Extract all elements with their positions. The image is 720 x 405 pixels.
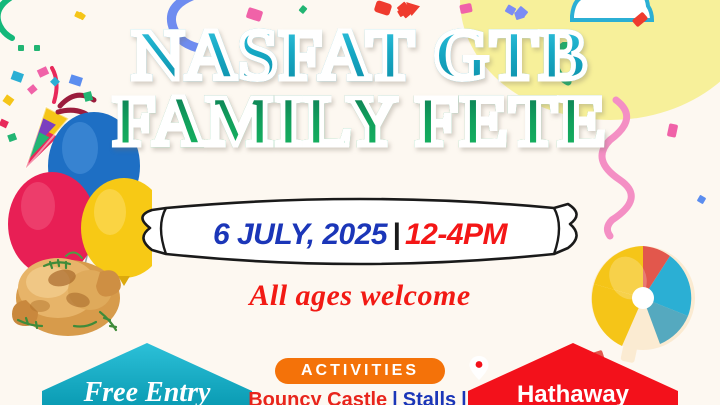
confetti-piece [77,12,86,21]
title-line-2: FAMILY FETE [0,88,720,154]
flyer-canvas: NASFAT GTB FAMILY FETE 6 JULY, 2025|12-4… [0,0,720,405]
event-date: 6 JULY, 2025 [213,218,387,251]
confetti-piece [697,195,707,205]
activity-item: Stalls [403,389,456,405]
ribbon-divider: | [392,218,400,251]
activity-item: Bouncy Castle [248,389,387,405]
event-time: 12-4PM [405,218,507,251]
confetti-piece [298,5,307,14]
confetti-piece [374,0,393,16]
activities-heading: ACTIVITIES [275,358,445,384]
title-line-1: NASFAT GTB [0,22,720,88]
flyer-title: NASFAT GTB FAMILY FETE [0,22,720,154]
activities-list: Bouncy Castle|Stalls| [0,389,720,405]
activity-separator: | [392,389,398,405]
tagline: All ages welcome [0,279,720,313]
activity-separator-trailing: | [461,389,467,405]
date-ribbon-banner: 6 JULY, 2025|12-4PM [132,192,588,278]
ribbon-text: 6 JULY, 2025|12-4PM [132,218,588,252]
location-pin-icon [468,355,678,381]
